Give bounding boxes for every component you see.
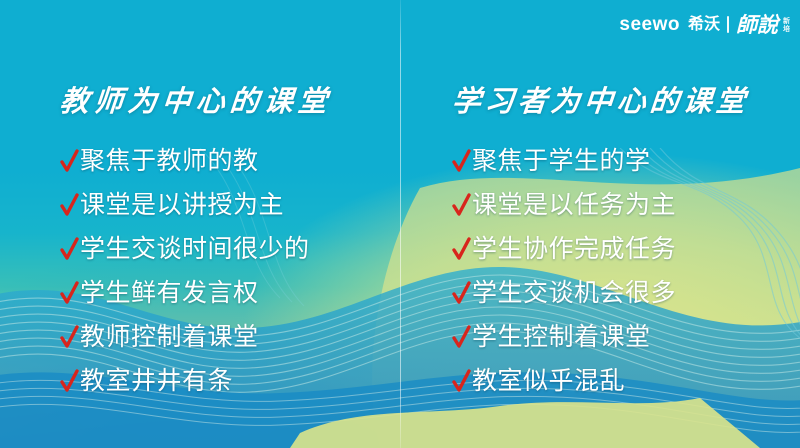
list-item: 学生控制着课堂 [452, 322, 800, 354]
list-item: 聚焦于学生的学 [452, 146, 800, 178]
list-item-label: 学生交谈机会很多 [472, 278, 676, 308]
column-heading-learner-centered: 学习者为中心的课堂 [450, 78, 800, 120]
check-icon [452, 237, 471, 263]
check-icon [60, 237, 79, 263]
presentation-slide: seewo 希沃 師說 新 培 教师为中心的课堂 聚焦于教师的教 [0, 0, 800, 448]
check-icon [60, 281, 79, 307]
list-item-label: 学生协作完成任务 [472, 234, 676, 264]
product-subtext-line-1: 新 [783, 18, 790, 26]
list-item: 教室似乎混乱 [452, 366, 800, 398]
brand-name-cn: 希沃 [688, 17, 720, 33]
logo-divider-bar [727, 16, 729, 33]
column-heading-teacher-centered: 教师为中心的课堂 [58, 78, 402, 120]
list-teacher-centered: 聚焦于教师的教 课堂是以讲授为主 学生交谈时间很少的 [60, 146, 400, 398]
check-icon [60, 149, 79, 175]
column-learner-centered: 学习者为中心的课堂 聚焦于学生的学 课堂是以任务为主 [400, 0, 800, 448]
product-subtext: 新 培 [783, 18, 790, 34]
list-item: 学生协作完成任务 [452, 234, 800, 266]
column-teacher-centered: 教师为中心的课堂 聚焦于教师的教 课堂是以讲授为主 [0, 0, 400, 448]
list-item: 学生交谈时间很少的 [60, 234, 400, 266]
list-item-label: 课堂是以讲授为主 [80, 190, 284, 220]
check-icon [452, 149, 471, 175]
list-item: 课堂是以任务为主 [452, 190, 800, 222]
list-item: 聚焦于教师的教 [60, 146, 400, 178]
check-icon [60, 193, 79, 219]
list-item-label: 课堂是以任务为主 [472, 190, 676, 220]
brand-name-latin: seewo [619, 15, 680, 34]
list-item: 课堂是以讲授为主 [60, 190, 400, 222]
product-name: 師說 [736, 14, 778, 35]
list-item-label: 聚焦于学生的学 [472, 146, 651, 176]
list-item: 学生鲜有发言权 [60, 278, 400, 310]
list-item-label: 教师控制着课堂 [80, 322, 259, 352]
list-item: 教师控制着课堂 [60, 322, 400, 354]
check-icon [452, 325, 471, 351]
list-item: 教室井井有条 [60, 366, 400, 398]
list-item-label: 学生控制着课堂 [472, 322, 651, 352]
product-subtext-line-2: 培 [783, 26, 790, 34]
check-icon [452, 281, 471, 307]
list-item-label: 教室井井有条 [80, 366, 233, 396]
brand-logo: seewo 希沃 師說 新 培 [619, 14, 790, 35]
list-item-label: 聚焦于教师的教 [80, 146, 259, 176]
check-icon [60, 369, 79, 395]
list-item-label: 学生鲜有发言权 [80, 278, 259, 308]
list-learner-centered: 聚焦于学生的学 课堂是以任务为主 学生协作完成任务 [452, 146, 800, 398]
list-item-label: 学生交谈时间很少的 [80, 234, 310, 264]
list-item-label: 教室似乎混乱 [472, 366, 625, 396]
comparison-columns: 教师为中心的课堂 聚焦于教师的教 课堂是以讲授为主 [0, 0, 800, 448]
list-item: 学生交谈机会很多 [452, 278, 800, 310]
check-icon [60, 325, 79, 351]
check-icon [452, 193, 471, 219]
check-icon [452, 369, 471, 395]
